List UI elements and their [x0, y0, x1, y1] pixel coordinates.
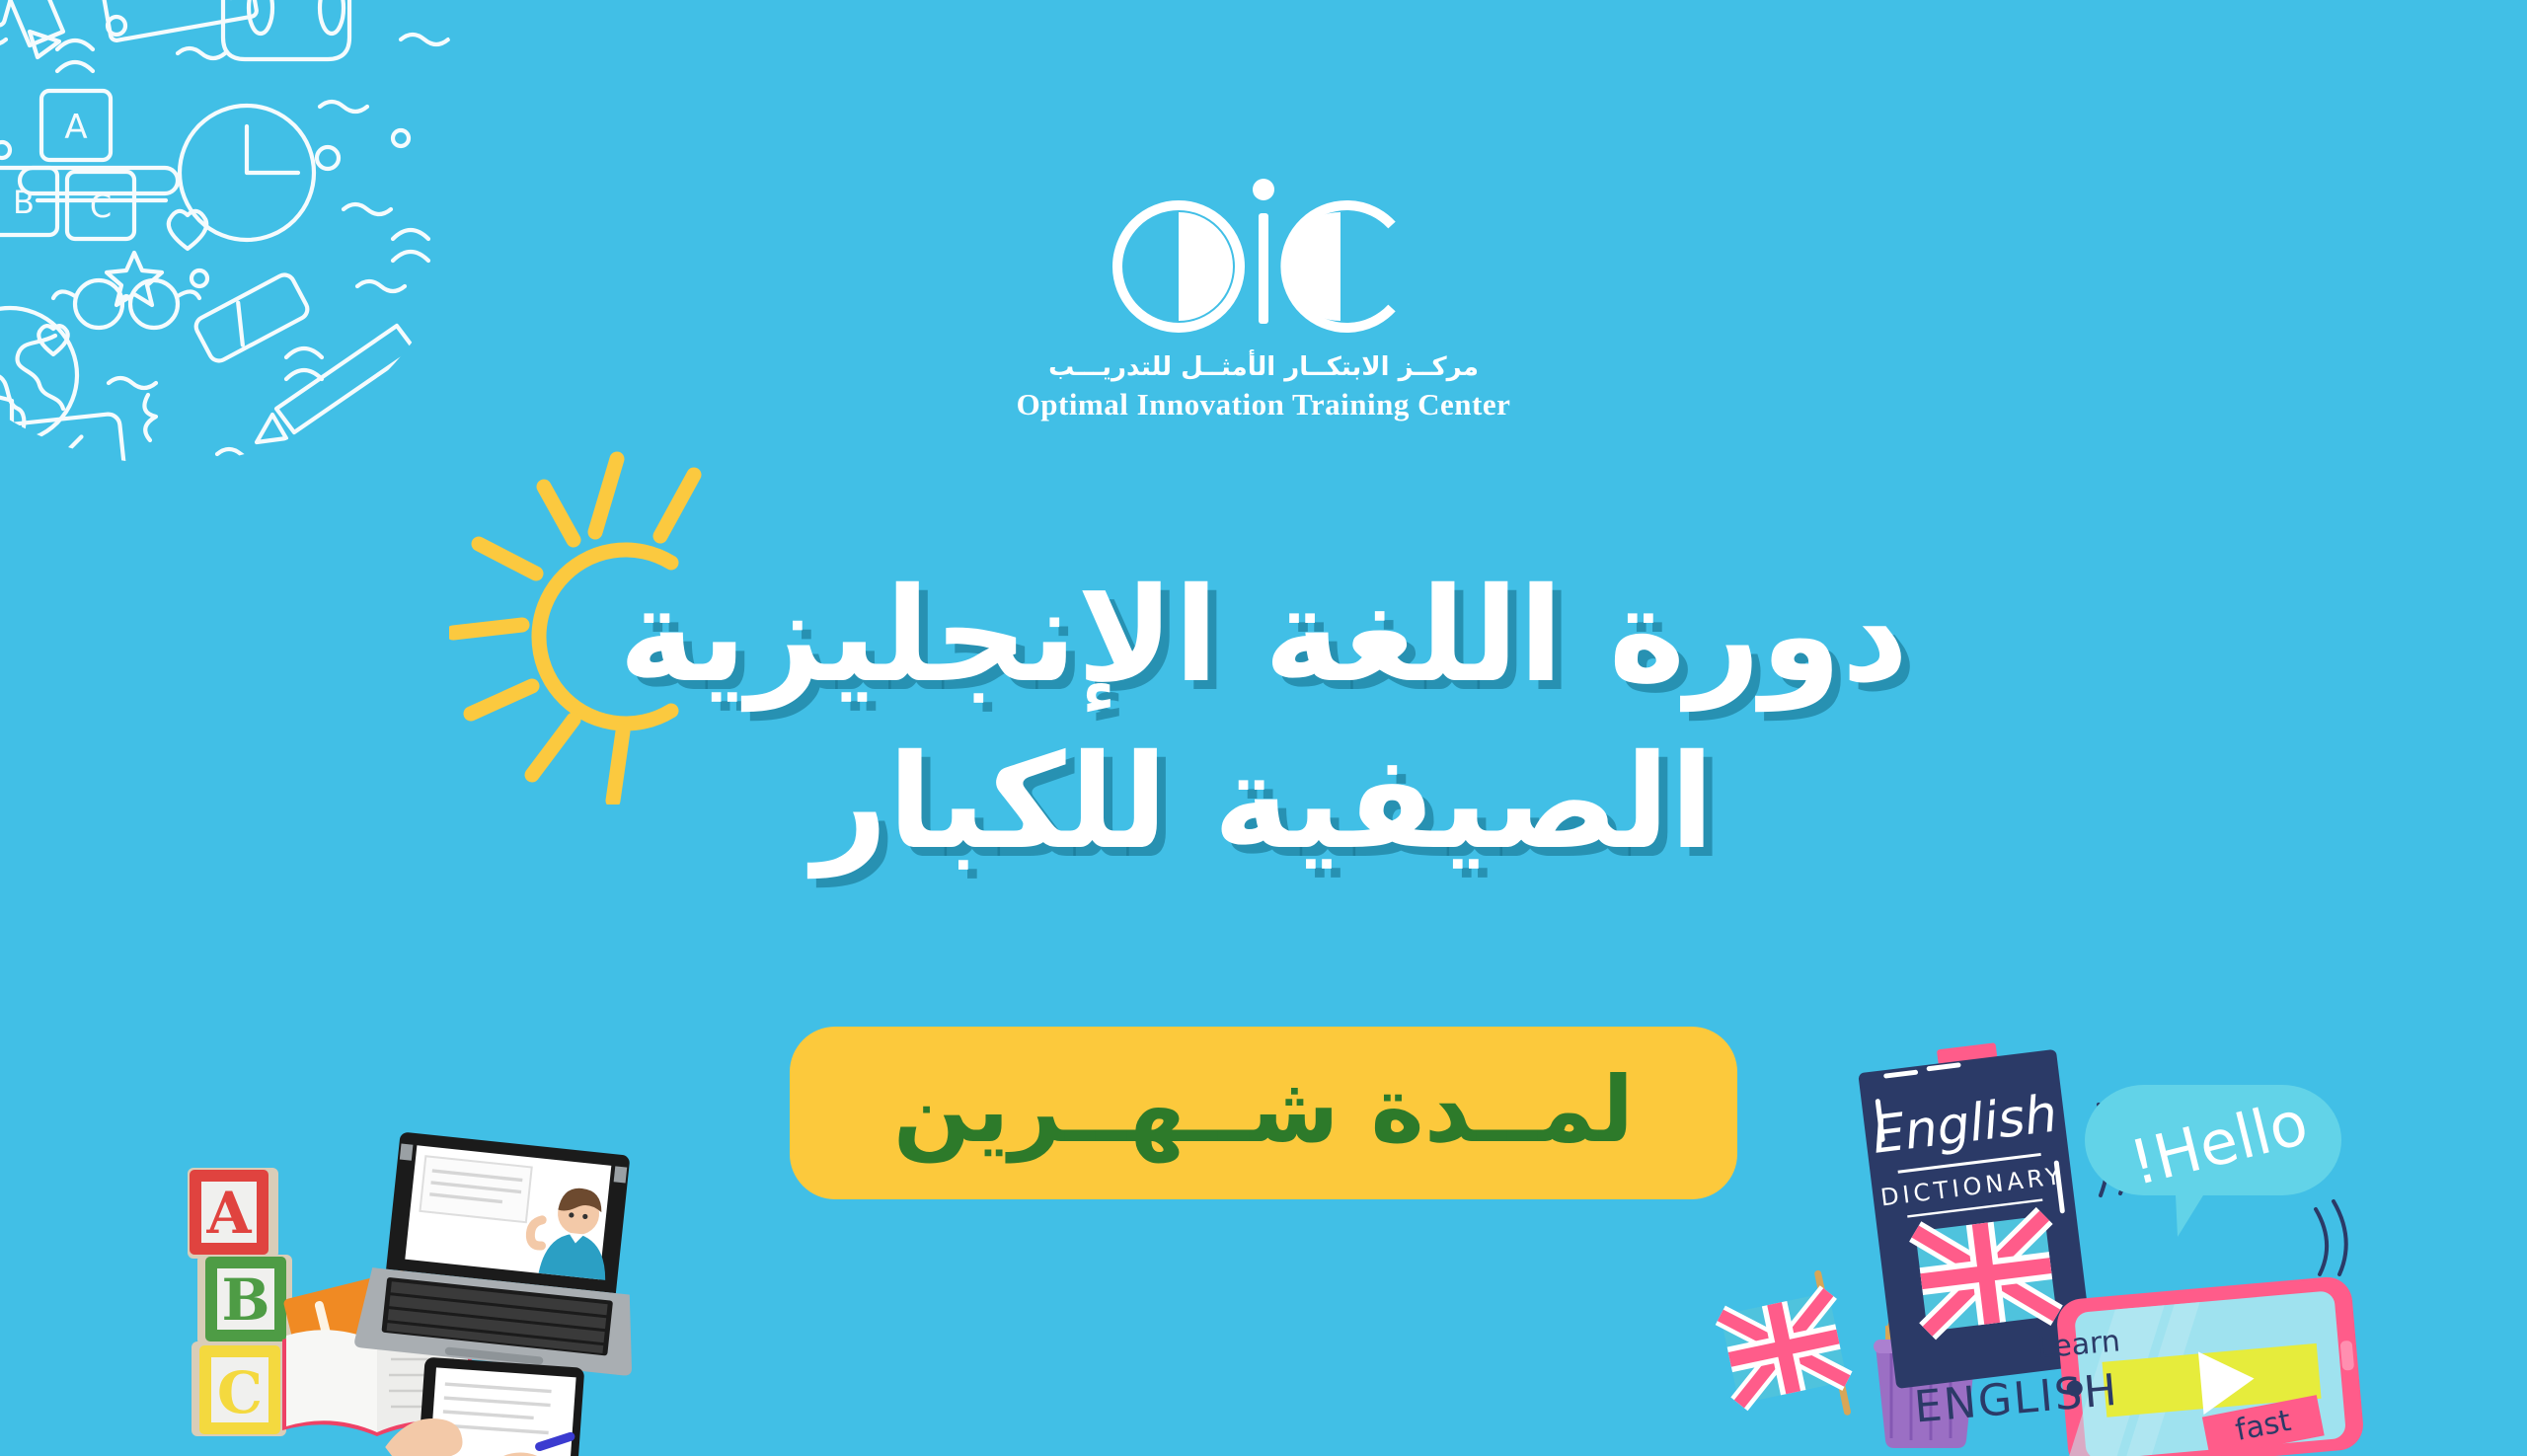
brand-name-arabic: مركــز الابتكــار الأمثــل للتدريـــب — [1048, 354, 1479, 380]
laptop-video-lesson-icon — [354, 1129, 654, 1376]
motion-lines-right — [2316, 1201, 2346, 1274]
tablet-icon — [0, 413, 129, 474]
svg-text:A: A — [205, 1180, 252, 1247]
brand-name-english: Optimal Innovation Training Center — [1017, 389, 1511, 420]
svg-text:A: A — [64, 108, 87, 147]
uk-flag-icon — [1716, 1269, 1855, 1437]
english-learning-illustration: English DICTIONARY — [1737, 1061, 2369, 1456]
headline-line-1: دورة اللغة الإنجليزية — [0, 553, 2527, 720]
oic-monogram-icon — [1096, 168, 1431, 341]
brand-logo: مركــز الابتكــار الأمثــل للتدريـــب Op… — [0, 168, 2527, 420]
headline-line-2: الصيفية للكبار — [0, 720, 2527, 886]
duration-badge-label: لمــدة شــهــرين — [893, 1065, 1634, 1156]
duration-badge[interactable]: لمــدة شــهــرين — [790, 1027, 1737, 1199]
hello-speech-bubble-icon: Hello! — [2085, 1085, 2341, 1237]
poster-canvas: A B C — [0, 0, 2527, 1456]
svg-text:B: B — [221, 1266, 269, 1334]
online-learning-illustration: A B C — [188, 1130, 750, 1456]
svg-text:Learn: Learn — [2036, 1324, 2122, 1365]
svg-text:C: C — [217, 1359, 263, 1426]
backpack-icon — [223, 0, 349, 59]
abc-blocks-icon: A B C — [188, 1168, 292, 1436]
page-title: دورة اللغة الإنجليزية الصيفية للكبار — [0, 553, 2527, 886]
